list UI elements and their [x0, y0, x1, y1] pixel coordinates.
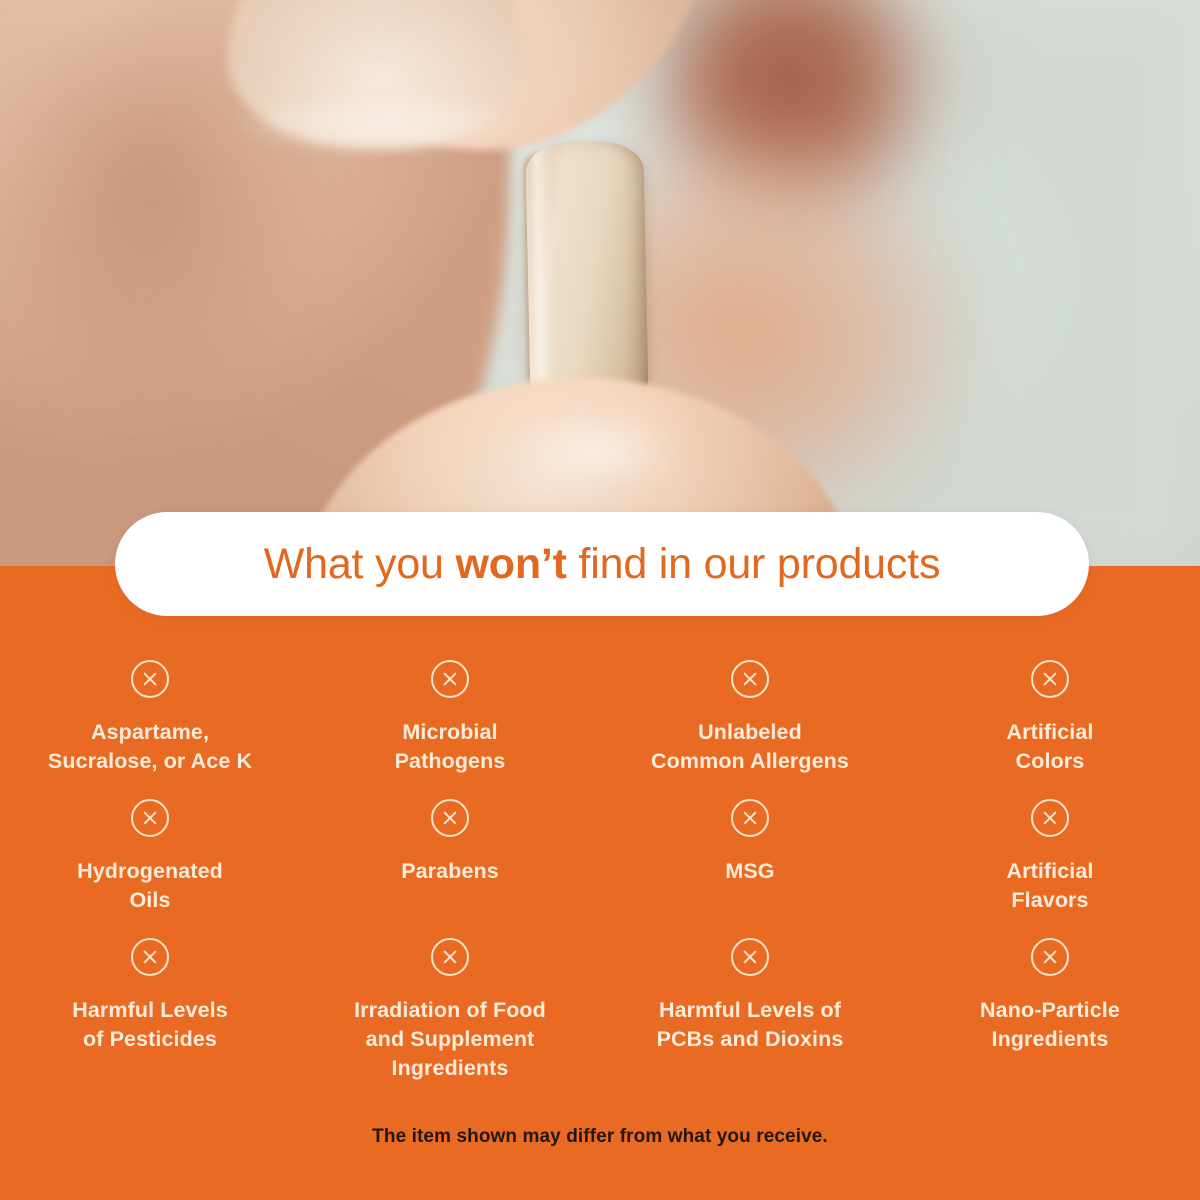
- headline-emphasis: won’t: [456, 540, 567, 588]
- x-circle-icon: [431, 938, 469, 976]
- exclusion-label: Irradiation of Food and Supplement Ingre…: [354, 996, 546, 1083]
- exclusions-grid: Aspartame, Sucralose, or Ace K Microbial…: [0, 648, 1200, 1076]
- x-circle-icon: [731, 799, 769, 837]
- exclusion-label: Aspartame, Sucralose, or Ace K: [48, 718, 252, 776]
- x-circle-icon: [1031, 799, 1069, 837]
- headline-card: What you won’t find in our products: [115, 512, 1089, 616]
- exclusion-item-pesticides: Harmful Levels of Pesticides: [0, 926, 300, 1076]
- exclusion-item-nano-particle: Nano-Particle Ingredients: [900, 926, 1200, 1076]
- exclusion-label: MSG: [725, 857, 774, 886]
- exclusion-item-msg: MSG: [600, 787, 900, 926]
- exclusion-item-parabens: Parabens: [300, 787, 600, 926]
- exclusion-label: Unlabeled Common Allergens: [651, 718, 849, 776]
- exclusion-label: Nano-Particle Ingredients: [980, 996, 1120, 1054]
- fingernail-edge: [214, 96, 544, 170]
- exclusion-item-microbial-pathogens: Microbial Pathogens: [300, 648, 600, 787]
- exclusion-label: Microbial Pathogens: [395, 718, 506, 776]
- exclusion-item-irradiation: Irradiation of Food and Supplement Ingre…: [300, 926, 600, 1076]
- page-title: What you won’t find in our products: [264, 543, 941, 586]
- exclusion-label: Artificial Colors: [1006, 718, 1093, 776]
- exclusion-item-aspartame: Aspartame, Sucralose, or Ace K: [0, 648, 300, 787]
- x-circle-icon: [731, 938, 769, 976]
- disclaimer-text: The item shown may differ from what you …: [0, 1126, 1200, 1148]
- bottom-fingertip-highlight: [470, 392, 720, 512]
- x-circle-icon: [131, 799, 169, 837]
- exclusion-label: Harmful Levels of Pesticides: [72, 996, 228, 1054]
- product-claims-graphic: What you won’t find in our products Aspa…: [0, 0, 1200, 1200]
- exclusion-label: Hydrogenated Oils: [77, 857, 223, 915]
- exclusion-item-pcbs-dioxins: Harmful Levels of PCBs and Dioxins: [600, 926, 900, 1076]
- x-circle-icon: [1031, 938, 1069, 976]
- x-circle-icon: [431, 660, 469, 698]
- exclusion-label: Parabens: [401, 857, 499, 886]
- exclusion-item-hydrogenated-oils: Hydrogenated Oils: [0, 787, 300, 926]
- x-circle-icon: [731, 660, 769, 698]
- x-circle-icon: [131, 938, 169, 976]
- x-circle-icon: [131, 660, 169, 698]
- exclusion-item-artificial-flavors: Artificial Flavors: [900, 787, 1200, 926]
- exclusion-label: Harmful Levels of PCBs and Dioxins: [657, 996, 844, 1054]
- supplement-tablet: [525, 141, 649, 411]
- headline-part-before: What you: [264, 540, 456, 588]
- headline-part-after: find in our products: [567, 540, 940, 588]
- x-circle-icon: [431, 799, 469, 837]
- exclusion-item-artificial-colors: Artificial Colors: [900, 648, 1200, 787]
- product-photo: [0, 0, 1200, 570]
- x-circle-icon: [1031, 660, 1069, 698]
- exclusion-label: Artificial Flavors: [1006, 857, 1093, 915]
- exclusion-item-unlabeled-allergens: Unlabeled Common Allergens: [600, 648, 900, 787]
